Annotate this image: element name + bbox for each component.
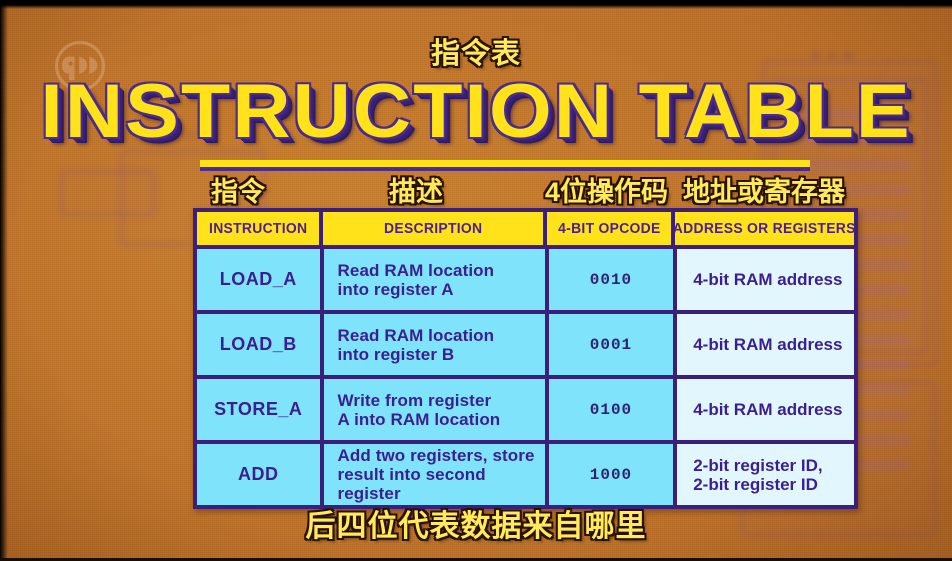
description-text: Read RAM location into register B <box>332 326 495 364</box>
address-line: 4-bit RAM address <box>693 270 842 289</box>
description-line: into register A <box>338 280 495 299</box>
table-cell-opcode: 0001 <box>545 314 674 375</box>
subtitle-top-chinese: 指令表 <box>0 30 952 72</box>
table-header-cell-opcode: 4-BIT OPCODE <box>543 212 671 245</box>
cn-caption-instruction: 指令 <box>211 170 265 209</box>
page-title: INSTRUCTION TABLE <box>40 74 911 150</box>
description-line: result into second register <box>338 465 537 503</box>
table-cell-instruction: LOAD_B <box>197 314 320 375</box>
opcode-value: 0010 <box>590 271 632 289</box>
page-title-wrap: INSTRUCTION TABLE <box>0 74 952 150</box>
table-cell-description: Read RAM location into register A <box>320 249 545 310</box>
table-header-cell-address: ADDRESS OR REGISTERS <box>671 212 854 245</box>
address-text: 4-bit RAM address <box>685 270 842 289</box>
table-cell-description: Read RAM location into register B <box>320 314 545 375</box>
table-cell-instruction: ADD <box>197 444 320 505</box>
instruction-name: LOAD_B <box>220 334 297 355</box>
table-cell-address: 4-bit RAM address <box>673 314 854 375</box>
instruction-name: ADD <box>238 464 279 485</box>
table-cell-address: 2-bit register ID, 2-bit register ID <box>673 444 854 505</box>
description-line: into register B <box>338 345 495 364</box>
table-cell-description: Write from register A into RAM location <box>320 379 545 440</box>
instruction-name: LOAD_A <box>220 269 297 290</box>
description-text: Write from register A into RAM location <box>332 391 501 429</box>
table-cell-instruction: STORE_A <box>197 379 320 440</box>
cn-caption-address: 地址或寄存器 <box>683 170 845 209</box>
frame-letterbox-top <box>0 0 952 9</box>
table-header-label: 4-BIT OPCODE <box>558 221 660 237</box>
address-line: 4-bit RAM address <box>693 400 842 419</box>
chinese-column-captions: 指令 描述 4位操作码 地址或寄存器 <box>193 170 950 208</box>
address-line: 2-bit register ID, <box>693 456 822 475</box>
instruction-table: INSTRUCTION DESCRIPTION 4-BIT OPCODE ADD… <box>193 208 858 509</box>
table-cell-description: Add two registers, store result into sec… <box>320 444 545 505</box>
address-line: 4-bit RAM address <box>693 335 842 354</box>
table-row: ADD Add two registers, store result into… <box>197 440 854 505</box>
description-line: Read RAM location <box>338 326 495 345</box>
table-header-label: ADDRESS OR REGISTERS <box>673 221 856 237</box>
table-cell-instruction: LOAD_A <box>197 249 320 310</box>
subtitle-bottom-chinese: 后四位代表数据来自哪里 <box>0 501 952 545</box>
opcode-value: 0001 <box>590 336 632 354</box>
description-line: Read RAM location <box>338 261 495 280</box>
table-cell-address: 4-bit RAM address <box>673 379 854 440</box>
table-row: STORE_A Write from register A into RAM l… <box>197 375 854 440</box>
address-line: 2-bit register ID <box>693 475 822 494</box>
table-cell-opcode: 0100 <box>545 379 674 440</box>
address-text: 4-bit RAM address <box>685 400 842 419</box>
description-text: Read RAM location into register A <box>332 261 495 299</box>
table-row: LOAD_A Read RAM location into register A… <box>197 245 854 310</box>
table-header-label: DESCRIPTION <box>384 221 482 237</box>
table-header-cell-description: DESCRIPTION <box>319 212 543 245</box>
title-underline <box>200 160 810 167</box>
description-line: A into RAM location <box>338 410 501 429</box>
cn-caption-opcode: 4位操作码 <box>545 170 668 209</box>
address-text: 4-bit RAM address <box>685 335 842 354</box>
table-header-row: INSTRUCTION DESCRIPTION 4-BIT OPCODE ADD… <box>197 212 854 245</box>
video-frame: REGISTER A R A M 指令表 INSTRUCTION TABLE 指… <box>0 0 952 561</box>
opcode-value: 1000 <box>590 466 632 484</box>
table-cell-opcode: 1000 <box>545 444 674 505</box>
table-header-label: INSTRUCTION <box>209 221 307 237</box>
description-text: Add two registers, store result into sec… <box>332 446 537 503</box>
table-cell-opcode: 0010 <box>545 249 674 310</box>
instruction-name: STORE_A <box>214 399 302 420</box>
table-header-cell-instruction: INSTRUCTION <box>197 212 319 245</box>
table-row: LOAD_B Read RAM location into register B… <box>197 310 854 375</box>
description-line: Add two registers, store <box>338 446 537 465</box>
cn-caption-description: 描述 <box>389 170 443 209</box>
table-cell-address: 4-bit RAM address <box>673 249 854 310</box>
opcode-value: 0100 <box>590 401 632 419</box>
description-line: Write from register <box>338 391 501 410</box>
address-text: 2-bit register ID, 2-bit register ID <box>685 456 822 494</box>
